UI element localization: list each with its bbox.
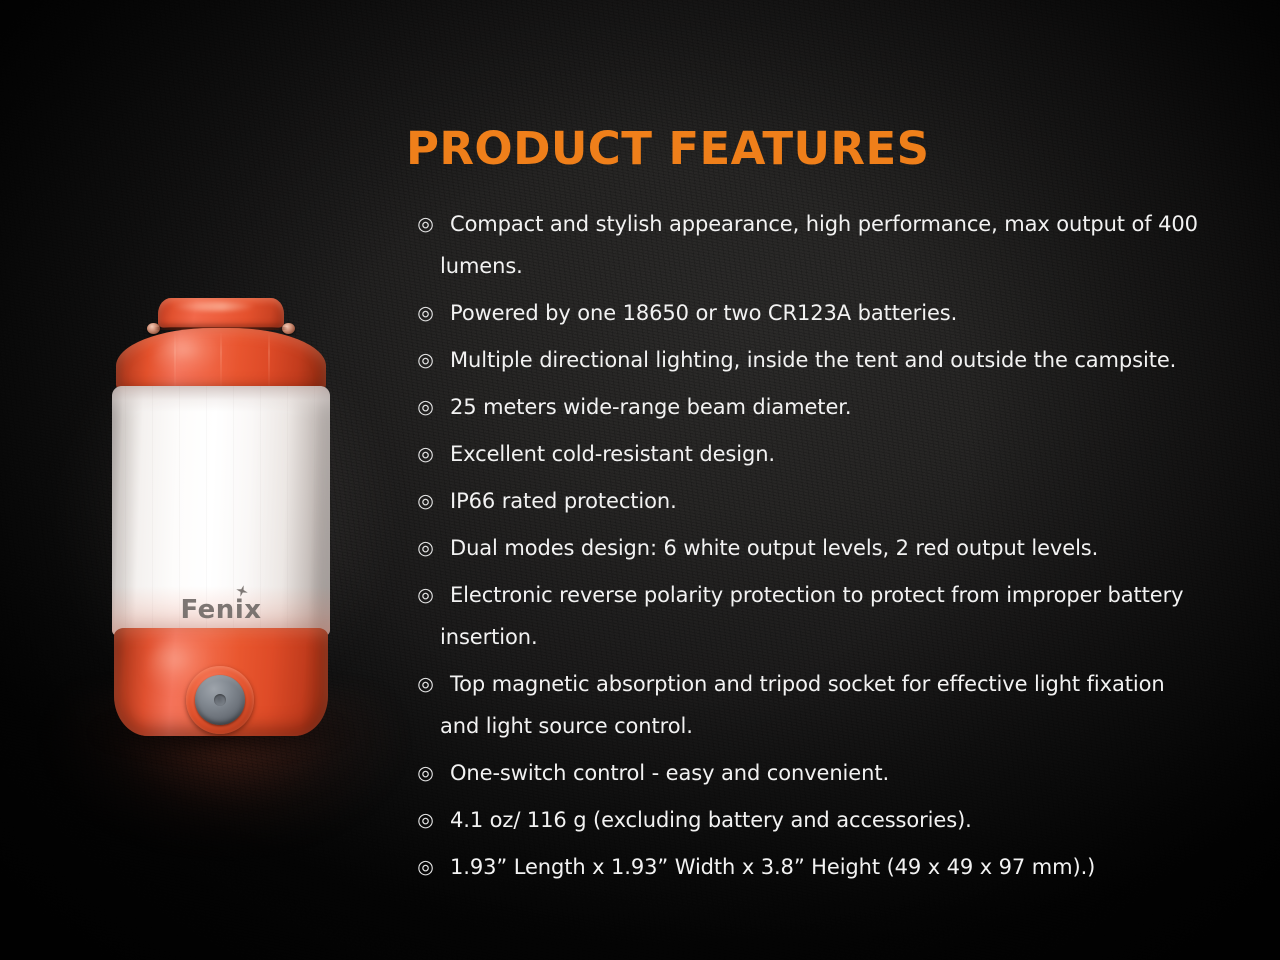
double-circle-bullet-icon: ◎ [416,480,435,522]
feature-item: ◎ Compact and stylish appearance, high p… [406,203,1206,287]
double-circle-bullet-icon: ◎ [416,386,435,428]
feature-text: Excellent cold-resistant design. [450,442,775,466]
feature-item: ◎ Powered by one 18650 or two CR123A bat… [406,292,1206,334]
feature-item: ◎ One-switch control - easy and convenie… [406,752,1206,794]
feature-item: ◎ IP66 rated protection. [406,480,1206,522]
feature-item: ◎ 1.93” Length x 1.93” Width x 3.8” Heig… [406,846,1206,888]
double-circle-bullet-icon: ◎ [416,574,435,616]
fenix-brand-logo: Fenix [112,595,330,625]
feature-text: One-switch control - easy and convenient… [450,761,889,785]
product-image-lantern: Fenix [112,298,330,736]
feature-item: ◎ 4.1 oz/ 116 g (excluding battery and a… [406,799,1206,841]
feature-text: Electronic reverse polarity protection t… [440,583,1183,649]
power-button-dimple [214,694,226,706]
feature-item: ◎ Dual modes design: 6 white output leve… [406,527,1206,569]
feature-text: Top magnetic absorption and tripod socke… [440,672,1165,738]
feature-text: Dual modes design: 6 white output levels… [450,536,1098,560]
double-circle-bullet-icon: ◎ [416,203,435,245]
feature-text: Powered by one 18650 or two CR123A batte… [450,301,957,325]
fenix-logo-suffix: x [244,595,261,625]
lantern-lid-highlight [172,302,256,311]
feature-item: ◎ Excellent cold-resistant design. [406,433,1206,475]
double-circle-bullet-icon: ◎ [416,846,435,888]
double-circle-bullet-icon: ◎ [416,799,435,841]
double-circle-bullet-icon: ◎ [416,292,435,334]
double-circle-bullet-icon: ◎ [416,663,435,705]
double-circle-bullet-icon: ◎ [416,752,435,794]
feature-text: 1.93” Length x 1.93” Width x 3.8” Height… [450,855,1095,879]
feature-text: Multiple directional lighting, inside th… [450,348,1176,372]
double-circle-bullet-icon: ◎ [416,339,435,381]
feature-item: ◎ Multiple directional lighting, inside … [406,339,1206,381]
lantern-cap-highlight [154,334,228,384]
feature-list: ◎ Compact and stylish appearance, high p… [406,203,1206,888]
features-content: PRODUCT FEATURES ◎ Compact and stylish a… [406,126,1206,893]
feature-item: ◎ Top magnetic absorption and tripod soc… [406,663,1206,747]
double-circle-bullet-icon: ◎ [416,527,435,569]
feature-item: ◎ Electronic reverse polarity protection… [406,574,1206,658]
double-circle-bullet-icon: ◎ [416,433,435,475]
product-features-slide: Fenix PRODUCT FEATURES ◎ Compact and sty… [0,0,1280,960]
lantern-cap-facet [268,332,270,390]
page-title: PRODUCT FEATURES [406,126,1206,171]
lantern-diffuser-top-shade [112,386,330,412]
feature-text: IP66 rated protection. [450,489,677,513]
fenix-logo-prefix: Fen [180,595,234,625]
feature-text: 25 meters wide-range beam diameter. [450,395,851,419]
feature-item: ◎ 25 meters wide-range beam diameter. [406,386,1206,428]
feature-text: 4.1 oz/ 116 g (excluding battery and acc… [450,808,972,832]
feature-text: Compact and stylish appearance, high per… [440,212,1198,278]
fenix-logo-star-icon: i [235,595,244,625]
